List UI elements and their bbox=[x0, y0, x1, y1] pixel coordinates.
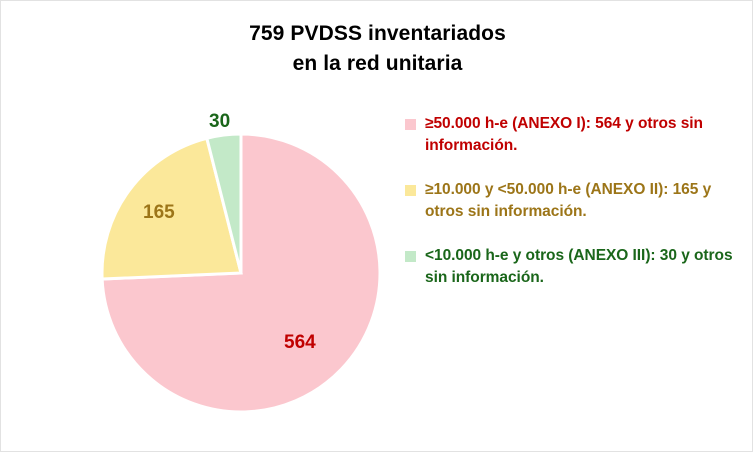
legend-label-anexo-iii: <10.000 h-e y otros (ANEXO III): 30 y ot… bbox=[425, 245, 745, 289]
legend-item-anexo-iii[interactable]: <10.000 h-e y otros (ANEXO III): 30 y ot… bbox=[405, 245, 745, 289]
legend-swatch-icon-anexo-iii bbox=[405, 251, 416, 262]
chart-page: 759 PVDSS inventariados en la red unitar… bbox=[0, 0, 753, 452]
pie-slice-label-564: 564 bbox=[284, 332, 316, 354]
chart-title-line-1: 759 PVDSS inventariados bbox=[1, 19, 753, 49]
pie-chart bbox=[99, 131, 383, 415]
chart-legend: ≥50.000 h-e (ANEXO I): 564 y otros sin i… bbox=[405, 113, 745, 311]
legend-item-anexo-ii[interactable]: ≥10.000 y <50.000 h-e (ANEXO II): 165 y … bbox=[405, 179, 745, 223]
legend-label-anexo-ii: ≥10.000 y <50.000 h-e (ANEXO II): 165 y … bbox=[425, 179, 745, 223]
legend-item-anexo-i[interactable]: ≥50.000 h-e (ANEXO I): 564 y otros sin i… bbox=[405, 113, 745, 157]
pie-chart-svg bbox=[99, 131, 383, 415]
chart-title: 759 PVDSS inventariados en la red unitar… bbox=[1, 19, 753, 79]
pie-slice-label-30: 30 bbox=[209, 111, 230, 133]
legend-swatch-icon-anexo-i bbox=[405, 119, 416, 130]
legend-label-anexo-i: ≥50.000 h-e (ANEXO I): 564 y otros sin i… bbox=[425, 113, 745, 157]
pie-slice-label-165: 165 bbox=[143, 202, 175, 224]
pie-slice-group bbox=[102, 134, 380, 412]
legend-swatch-icon-anexo-ii bbox=[405, 185, 416, 196]
chart-title-line-2: en la red unitaria bbox=[1, 49, 753, 79]
